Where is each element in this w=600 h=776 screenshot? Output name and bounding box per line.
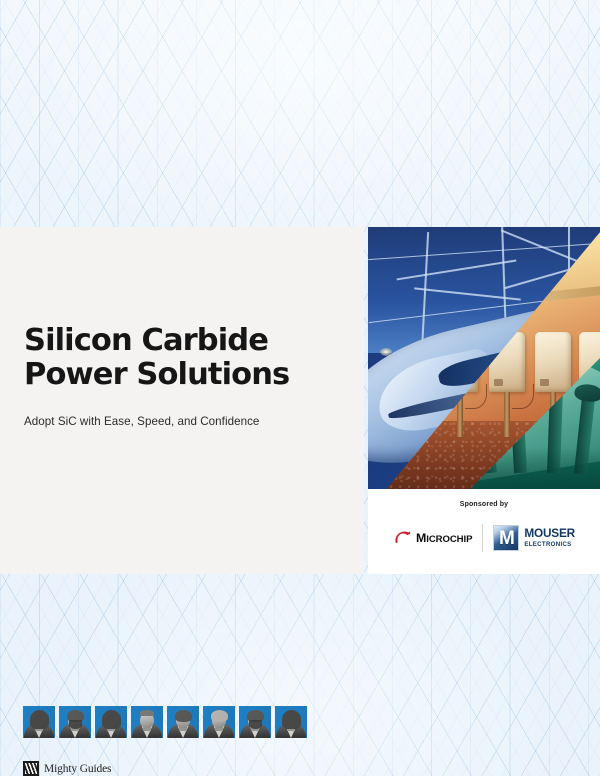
avatar [167, 706, 199, 738]
sponsor-section: Sponsored by MICROCHIP [368, 489, 600, 574]
contributor-avatar-6[interactable] [203, 706, 235, 738]
diagonal-photo-collage [368, 227, 600, 489]
mouser-wordmark-line1: MOUSER [524, 528, 575, 540]
mouser-electronics-logo[interactable]: M MOUSER ELECTRONICS [493, 525, 575, 551]
cover-left-panel: Silicon Carbide Power Solutions Adopt Si… [0, 227, 364, 574]
contributor-avatar-1[interactable] [23, 706, 55, 738]
avatar [275, 706, 307, 738]
mouser-logo-cell[interactable]: M MOUSER ELECTRONICS [493, 519, 575, 557]
mighty-guides-wordmark: Mighty Guides [44, 763, 111, 775]
avatar [239, 706, 271, 738]
cover-page: Silicon Carbide Power Solutions Adopt Si… [0, 0, 600, 776]
contributor-avatar-7[interactable] [239, 706, 271, 738]
microchip-wordmark-first: M [416, 531, 426, 545]
microchip-wordmark-rest: ICROCHIP [426, 534, 472, 545]
mighty-guides-logo[interactable]: Mighty Guides [23, 761, 111, 776]
avatar [203, 706, 235, 738]
microchip-logo[interactable]: MICROCHIP [393, 529, 472, 548]
sponsor-logo-row: MICROCHIP M MOUSER ELECTRONICS [368, 519, 600, 557]
avatar [95, 706, 127, 738]
cover-right-panel: Sponsored by MICROCHIP [368, 227, 600, 574]
contributor-avatar-8[interactable] [275, 706, 307, 738]
mouser-wordmark: MOUSER ELECTRONICS [524, 528, 575, 547]
page-subtitle: Adopt SiC with Ease, Speed, and Confiden… [24, 415, 354, 428]
sponsored-by-label: Sponsored by [368, 501, 600, 508]
contributor-avatar-4[interactable] [131, 706, 163, 738]
mouser-mark-letter: M [499, 529, 514, 548]
logo-divider [482, 524, 483, 552]
microchip-mark-icon [393, 529, 412, 548]
ebook-cover-card[interactable]: Silicon Carbide Power Solutions Adopt Si… [0, 227, 600, 574]
contributor-avatar-3[interactable] [95, 706, 127, 738]
contributor-avatar-2[interactable] [59, 706, 91, 738]
avatar [23, 706, 55, 738]
avatar [131, 706, 163, 738]
mighty-guides-mark-icon [23, 761, 39, 776]
mouser-mark-icon: M [493, 525, 519, 551]
avatar [59, 706, 91, 738]
mouser-wordmark-line2: ELECTRONICS [524, 542, 575, 548]
page-title: Silicon Carbide Power Solutions [24, 324, 344, 392]
microchip-logo-cell[interactable]: MICROCHIP [393, 519, 472, 557]
contributor-headshot-strip [23, 706, 307, 738]
contributor-avatar-5[interactable] [167, 706, 199, 738]
microchip-wordmark: MICROCHIP [416, 532, 472, 545]
